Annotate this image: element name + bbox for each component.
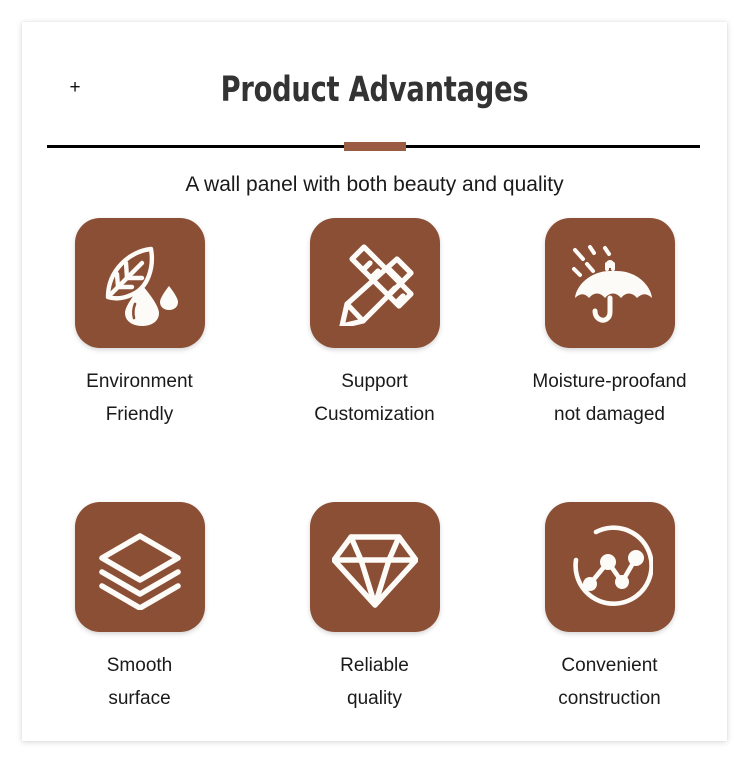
leaf-water-drop-icon [97, 240, 183, 326]
divider-accent-bar [344, 142, 406, 151]
layers-stack-icon [97, 524, 183, 610]
plus-icon[interactable]: + [66, 76, 84, 100]
caption-line-2: not damaged [532, 398, 686, 431]
diamond-icon [332, 524, 418, 610]
caption-line-2: surface [107, 682, 172, 715]
feature-item-smooth-surface[interactable]: Smooth surface [22, 502, 257, 715]
page-subtitle: A wall panel with both beauty and qualit… [22, 173, 727, 197]
feature-caption: Smooth surface [107, 649, 172, 715]
features-grid: Environment Friendly [22, 218, 727, 715]
page-root: + Product Advantages A wall panel with b… [0, 0, 750, 779]
caption-line-2: Friendly [86, 398, 193, 431]
page-title: Product Advantages [100, 70, 650, 110]
feature-caption: Environment Friendly [86, 365, 193, 431]
caption-line-2: Customization [314, 398, 434, 431]
feature-caption: Support Customization [314, 365, 434, 431]
feature-caption: Reliable quality [340, 649, 409, 715]
title-divider [47, 142, 700, 152]
product-advantages-card: + Product Advantages A wall panel with b… [22, 22, 727, 741]
feature-icon-tile [310, 218, 440, 348]
caption-line-1: Moisture-proofand [532, 365, 686, 398]
feature-item-support-customization[interactable]: Support Customization [257, 218, 492, 431]
feature-icon-tile [75, 502, 205, 632]
feature-item-environment-friendly[interactable]: Environment Friendly [22, 218, 257, 431]
caption-line-1: Smooth [107, 649, 172, 682]
caption-line-2: quality [340, 682, 409, 715]
features-row-1: Environment Friendly [22, 218, 727, 431]
pencil-ruler-icon [332, 240, 418, 326]
features-row-2: Smooth surface [22, 502, 727, 715]
caption-line-1: Reliable [340, 649, 409, 682]
feature-caption: Moisture-proofand not damaged [532, 365, 686, 431]
feature-icon-tile [545, 218, 675, 348]
feature-item-moisture-proof[interactable]: Moisture-proofand not damaged [492, 218, 727, 431]
feature-item-convenient-construction[interactable]: Convenient construction [492, 502, 727, 715]
feature-icon-tile [545, 502, 675, 632]
caption-line-1: Convenient [558, 649, 660, 682]
caption-line-1: Support [314, 365, 434, 398]
chart-nodes-circle-icon [567, 524, 653, 610]
feature-icon-tile [75, 218, 205, 348]
feature-item-reliable-quality[interactable]: Reliable quality [257, 502, 492, 715]
feature-caption: Convenient construction [558, 649, 660, 715]
caption-line-2: construction [558, 682, 660, 715]
feature-icon-tile [310, 502, 440, 632]
caption-line-1: Environment [86, 365, 193, 398]
umbrella-rain-icon [567, 240, 653, 326]
